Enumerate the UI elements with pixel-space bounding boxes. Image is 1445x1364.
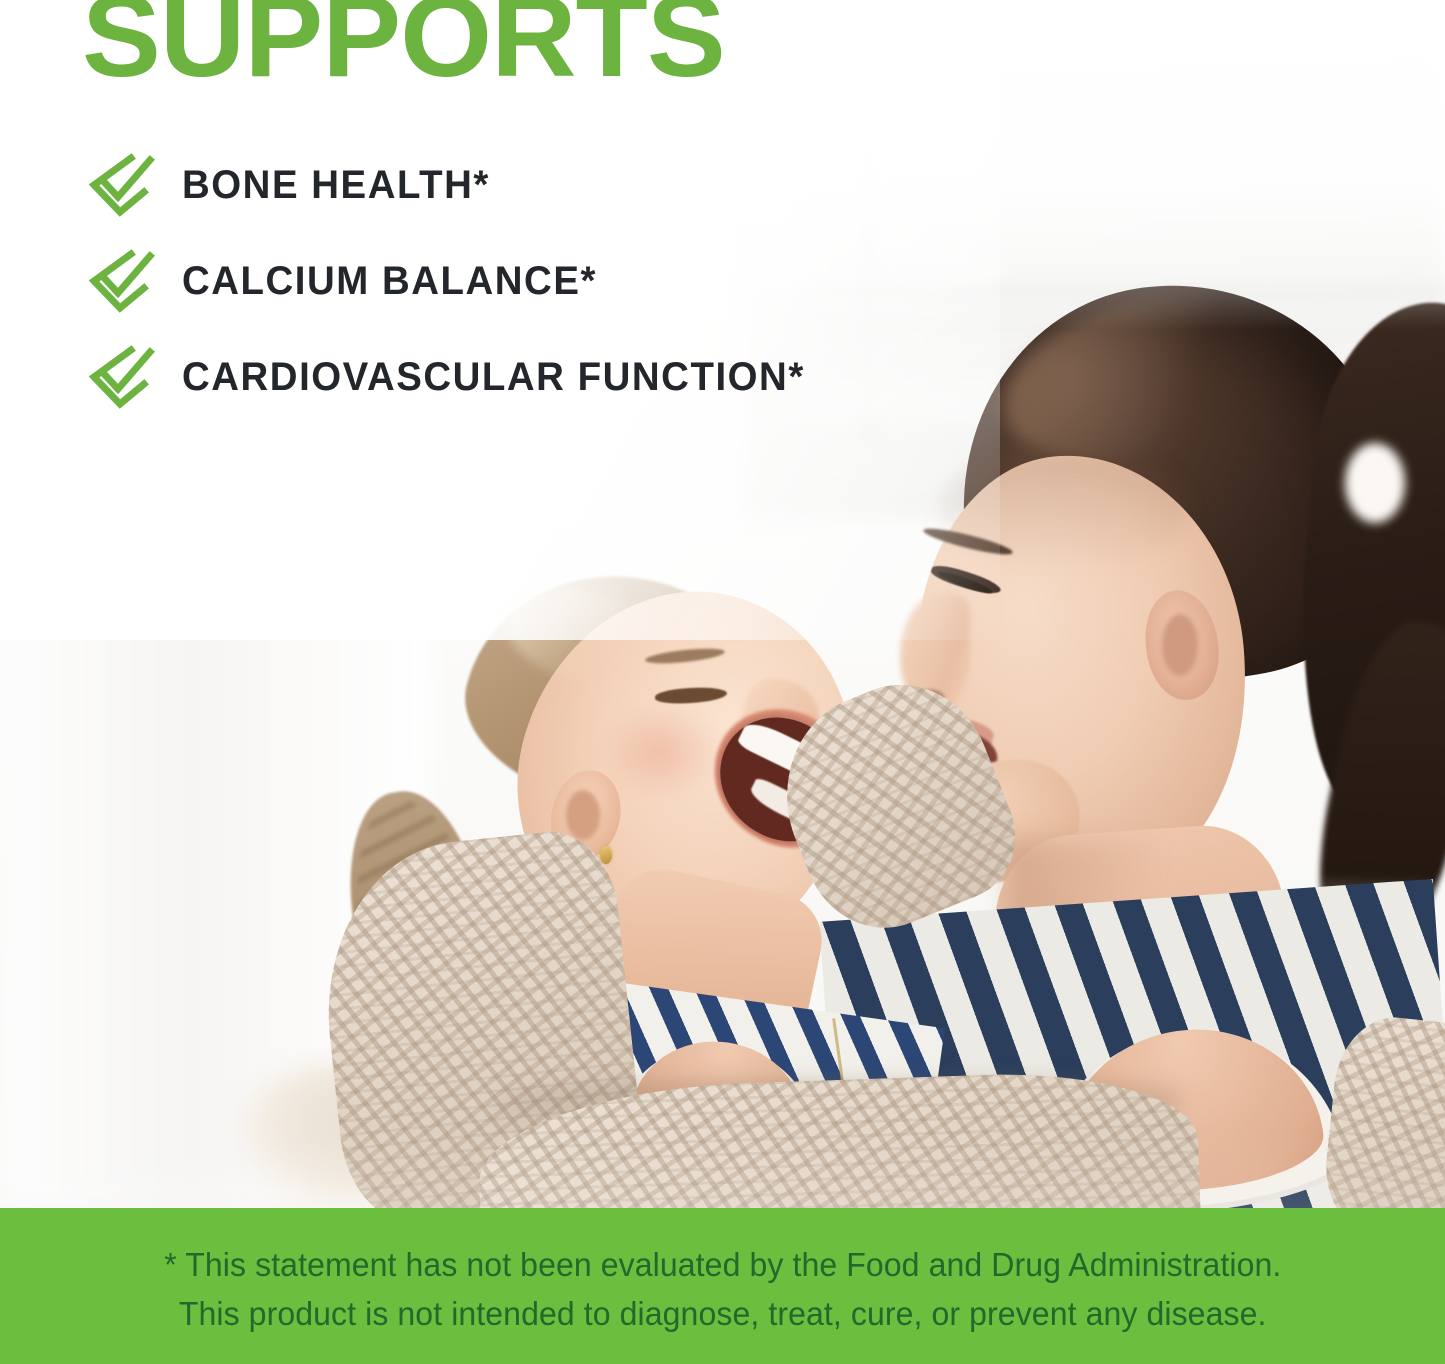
- benefit-label: CALCIUM BALANCE*: [182, 259, 597, 304]
- mother-forehead-shading: [940, 450, 1190, 570]
- mother-ponytail-gap: [1345, 443, 1405, 523]
- list-item: CALCIUM BALANCE*: [84, 233, 1084, 329]
- fda-disclaimer-band: * This statement has not been evaluated …: [0, 1208, 1445, 1364]
- photo-bottom-fade: [0, 1130, 1445, 1208]
- benefit-label: BONE HEALTH*: [182, 163, 490, 208]
- page-title: SUPPORTS: [82, 0, 725, 94]
- product-lifestyle-banner: SUPPORTS BONE HEALTH*: [0, 0, 1445, 1364]
- list-item: CARDIOVASCULAR FUNCTION*: [84, 329, 1084, 425]
- check-diamond-icon: [84, 341, 156, 413]
- benefit-label: CARDIOVASCULAR FUNCTION*: [182, 355, 805, 400]
- check-diamond-icon: [84, 149, 156, 221]
- child-cheek-blush: [600, 705, 720, 800]
- mother-ear-inner: [1162, 614, 1198, 676]
- disclaimer-line-2: This product is not intended to diagnose…: [179, 1289, 1267, 1338]
- benefits-list: BONE HEALTH* CALCIUM BALANCE*: [84, 137, 1084, 425]
- list-item: BONE HEALTH*: [84, 137, 1084, 233]
- child-earring: [600, 846, 612, 864]
- child-ear-inner: [566, 790, 600, 840]
- disclaimer-line-1: * This statement has not been evaluated …: [164, 1240, 1281, 1289]
- check-diamond-icon: [84, 245, 156, 317]
